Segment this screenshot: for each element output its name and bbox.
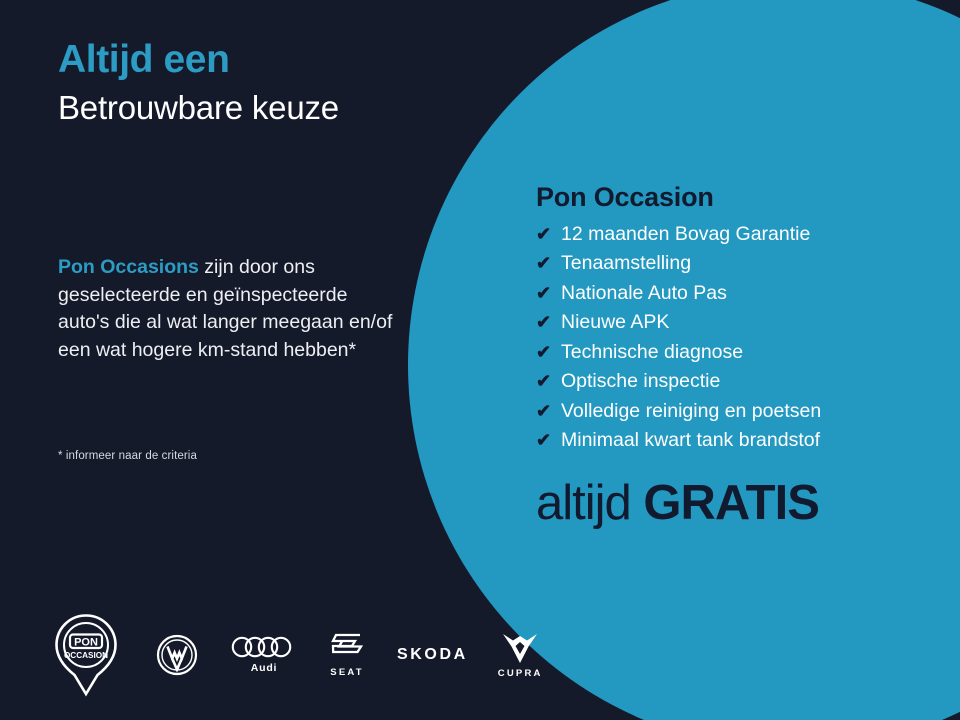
- benefit-label: 12 maanden Bovag Garantie: [561, 223, 810, 245]
- list-item: ✔ Nationale Auto Pas: [536, 282, 936, 304]
- benefit-label: Nationale Auto Pas: [561, 282, 727, 304]
- list-item: ✔ Technische diagnose: [536, 341, 936, 363]
- gratis-light-word: altijd: [536, 476, 631, 530]
- volkswagen-roundel-icon: [156, 634, 198, 676]
- audi-wordmark: Audi: [251, 662, 278, 674]
- pon-occasion-logo: PON OCCASION: [54, 613, 118, 697]
- list-item: ✔ Minimaal kwart tank brandstof: [536, 429, 936, 451]
- benefit-list: ✔ 12 maanden Bovag Garantie ✔ Tenaamstel…: [536, 223, 936, 451]
- body-paragraph: Pon Occasions zijn door ons geselecteerd…: [58, 254, 403, 365]
- check-icon: ✔: [536, 342, 561, 363]
- benefit-label: Minimaal kwart tank brandstof: [561, 429, 820, 451]
- body-accent-text: Pon Occasions: [58, 256, 199, 278]
- benefit-label: Technische diagnose: [561, 341, 743, 363]
- pon-logo-line-1: PON: [74, 636, 98, 648]
- promo-poster: Altijd een Betrouwbare keuze Pon Occasio…: [0, 0, 960, 720]
- check-icon: ✔: [536, 224, 561, 245]
- benefit-label: Volledige reiniging en poetsen: [561, 400, 821, 422]
- headline-block: Altijd een Betrouwbare keuze: [58, 38, 438, 127]
- audi-rings-icon: [231, 636, 297, 658]
- skoda-wordmark: SKODA: [397, 646, 468, 664]
- check-icon: ✔: [536, 253, 561, 274]
- brand-logo-row: PON OCCASION: [54, 612, 543, 698]
- list-item: ✔ Nieuwe APK: [536, 311, 936, 333]
- list-item: ✔ Optische inspectie: [536, 370, 936, 392]
- benefit-label: Optische inspectie: [561, 370, 720, 392]
- cupra-tribal-icon: [501, 632, 539, 664]
- footnote-text: * informeer naar de criteria: [58, 450, 197, 462]
- benefit-label: Nieuwe APK: [561, 311, 669, 333]
- cupra-logo: CUPRA: [498, 632, 543, 679]
- seat-wordmark: SEAT: [330, 667, 363, 678]
- check-icon: ✔: [536, 371, 561, 392]
- benefit-label: Tenaamstelling: [561, 252, 691, 274]
- headline-line-2: Betrouwbare keuze: [58, 88, 438, 128]
- check-icon: ✔: [536, 312, 561, 333]
- headline-line-1: Altijd een: [58, 38, 438, 82]
- map-pin-icon: PON OCCASION: [54, 613, 118, 697]
- pon-logo-line-2: OCCASION: [64, 651, 108, 660]
- right-panel: Pon Occasion ✔ 12 maanden Bovag Garantie…: [536, 182, 936, 531]
- right-panel-title: Pon Occasion: [536, 182, 936, 213]
- gratis-bold-word: GRATIS: [643, 476, 818, 530]
- list-item: ✔ 12 maanden Bovag Garantie: [536, 223, 936, 245]
- list-item: ✔ Tenaamstelling: [536, 252, 936, 274]
- check-icon: ✔: [536, 401, 561, 422]
- left-panel: Altijd een Betrouwbare keuze Pon Occasio…: [0, 0, 440, 720]
- cupra-wordmark: CUPRA: [498, 668, 543, 679]
- skoda-logo: SKODA: [397, 646, 468, 664]
- check-icon: ✔: [536, 283, 561, 304]
- audi-logo: Audi: [231, 636, 297, 674]
- seat-s-icon: [330, 633, 364, 663]
- gratis-tagline: altijd GRATIS: [536, 475, 936, 531]
- seat-logo: SEAT: [330, 633, 364, 678]
- volkswagen-logo: [156, 634, 198, 676]
- check-icon: ✔: [536, 430, 561, 451]
- list-item: ✔ Volledige reiniging en poetsen: [536, 400, 936, 422]
